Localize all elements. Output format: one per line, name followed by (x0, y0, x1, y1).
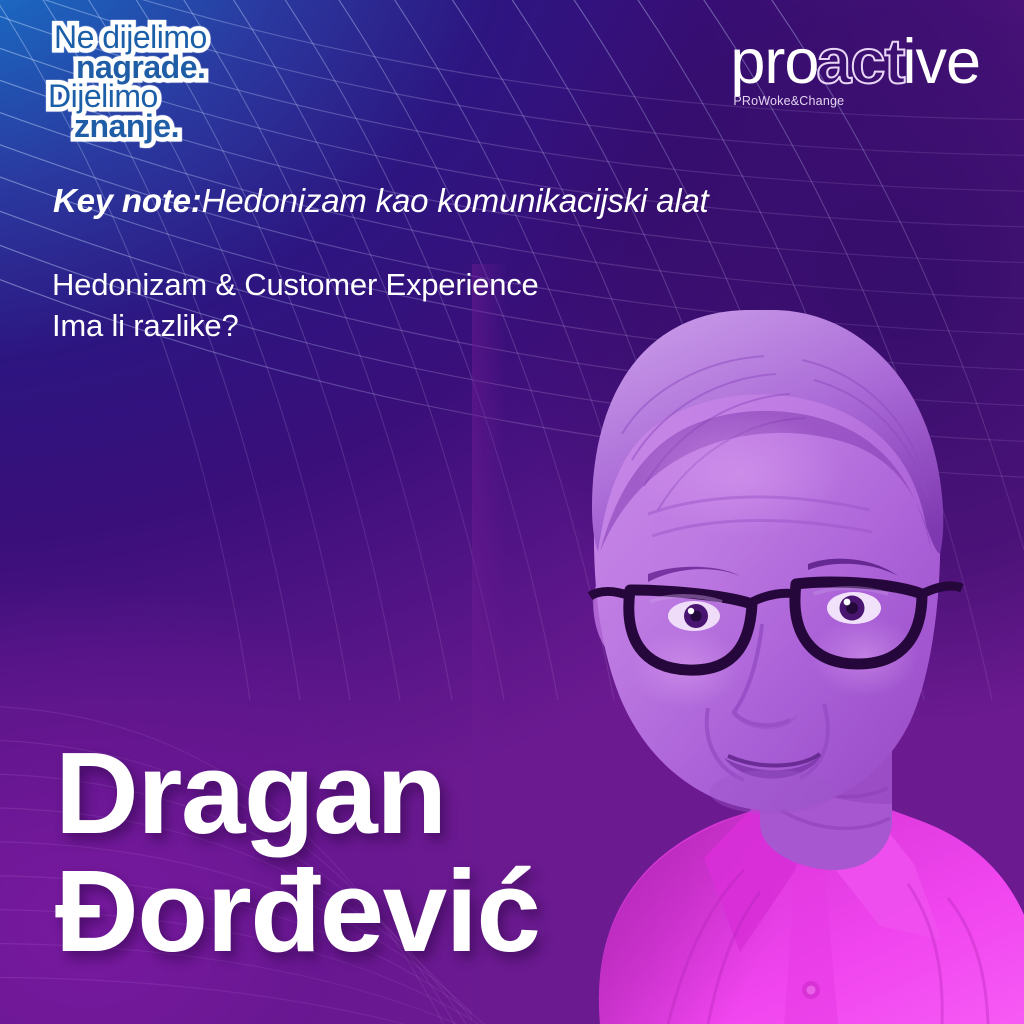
keynote-label: Key note: (53, 182, 202, 219)
subtitle-line-2: Ima li razlike? (52, 306, 539, 347)
proactive-logo: proactive PRoWoke&Change (730, 34, 980, 108)
logo-wordmark: proactive (730, 34, 980, 92)
subtitle-line-1: Hedonizam & Customer Experience (52, 265, 539, 306)
slogan-line-4: znanje. (74, 111, 346, 143)
speaker-last-name: Đorđević (55, 858, 539, 966)
speaker-first-name: Dragan (55, 740, 539, 848)
speaker-announcement-poster: Ne dijelimo nagrade. Dijelimo znanje. pr… (0, 0, 1024, 1024)
speaker-portrait (472, 264, 1024, 1024)
sticker-slogan: Ne dijelimo nagrade. Dijelimo znanje. (46, 22, 346, 143)
logo-part-act: act (816, 27, 904, 97)
logo-part-ive: ive (902, 27, 980, 97)
session-subtitle: Hedonizam & Customer Experience Ima li r… (52, 265, 539, 347)
speaker-name: Dragan Đorđević (55, 740, 539, 966)
logo-part-pro: pro (730, 27, 818, 97)
keynote-title: Hedonizam kao komunikacijski alat (202, 182, 709, 219)
keynote-heading: Key note:Hedonizam kao komunikacijski al… (53, 182, 709, 220)
